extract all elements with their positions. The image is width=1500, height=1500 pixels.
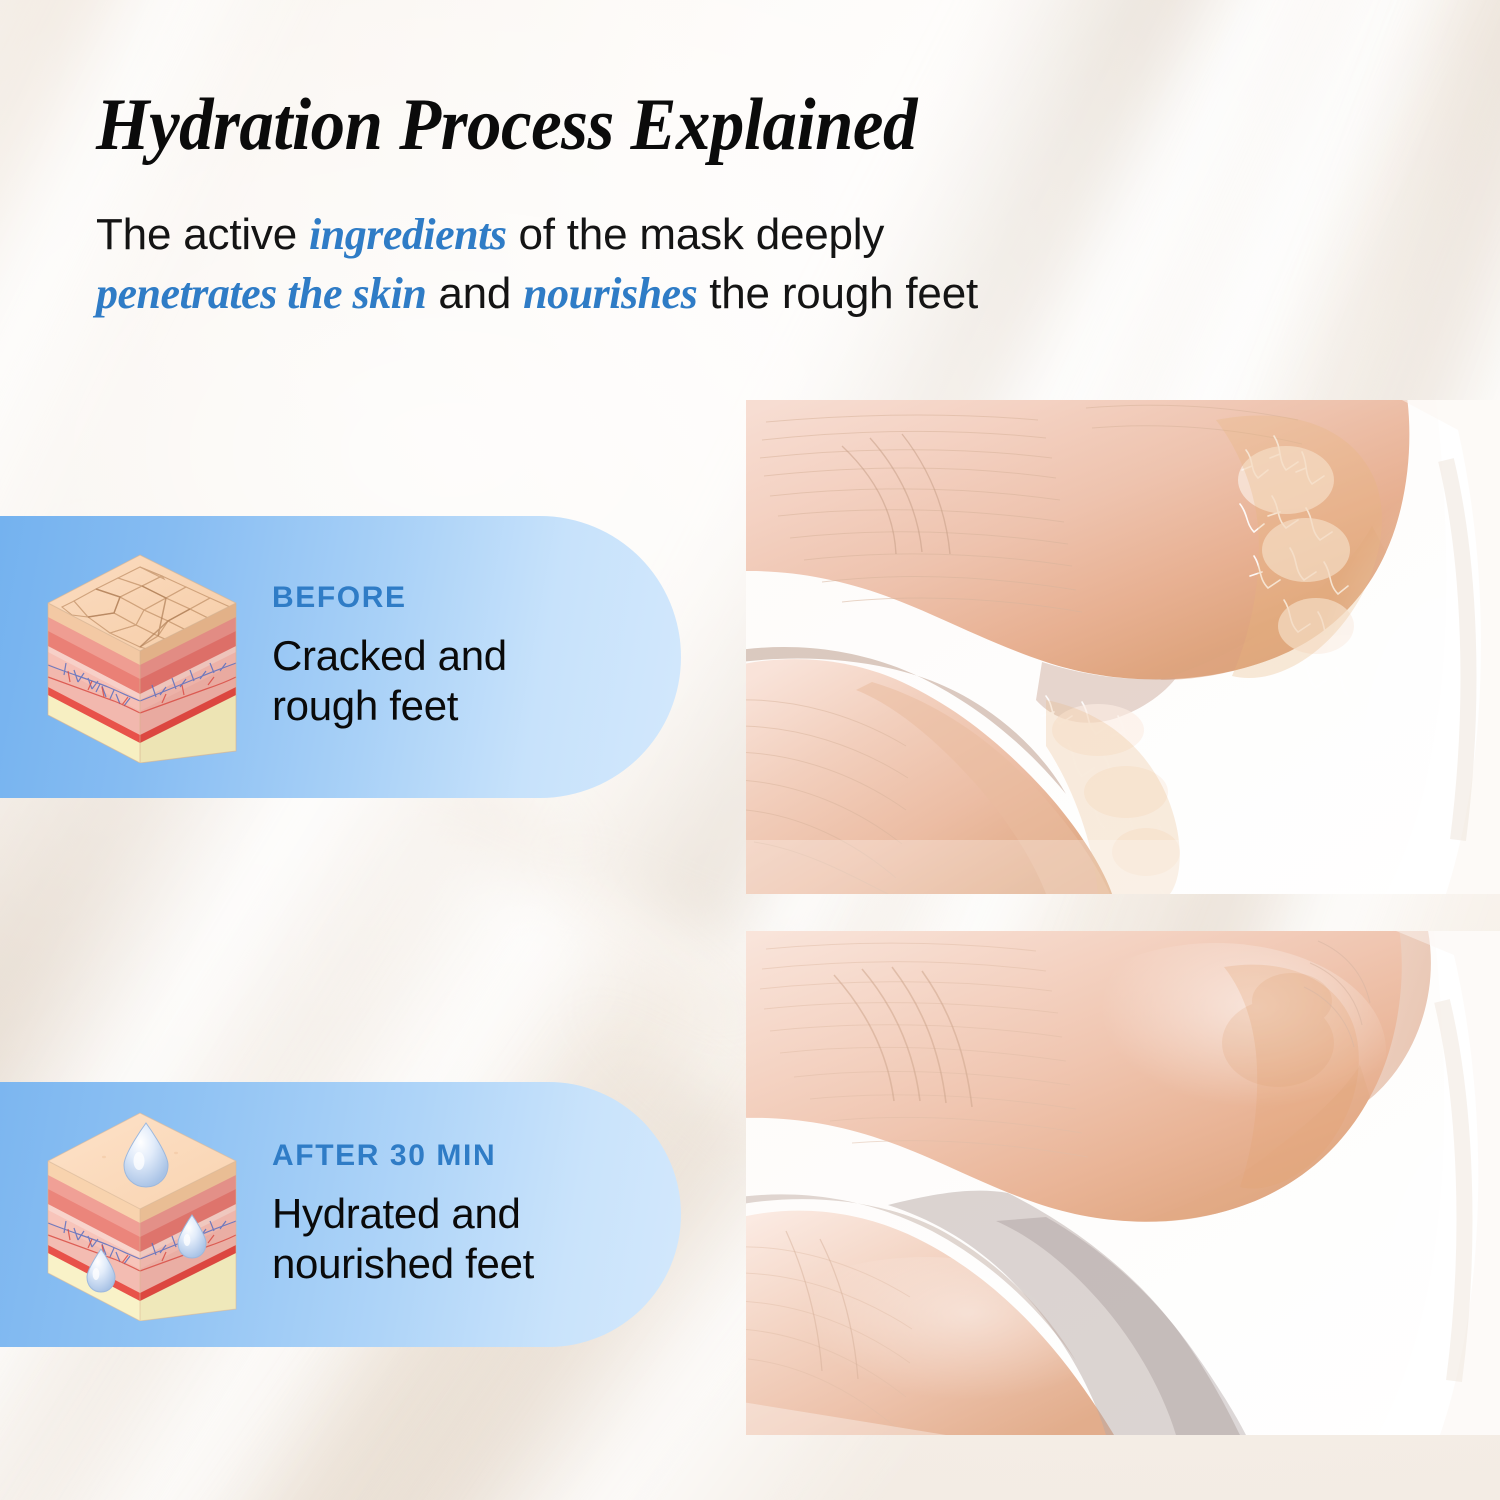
card-before-text: BEFORE Cracked and rough feet bbox=[272, 583, 507, 730]
subtitle-segment-accent-nourishes: nourishes bbox=[523, 269, 697, 318]
page-title: Hydration Process Explained bbox=[96, 88, 1026, 162]
card-after: AFTER 30 MIN Hydrated and nourished feet bbox=[0, 1082, 681, 1347]
card-after-text: AFTER 30 MIN Hydrated and nourished feet bbox=[272, 1141, 534, 1288]
subtitle-segment-plain-1: The active bbox=[96, 210, 309, 259]
card-before-kicker: BEFORE bbox=[272, 583, 507, 613]
photo-after-hydrated-heels bbox=[746, 931, 1500, 1435]
card-after-kicker: AFTER 30 MIN bbox=[272, 1141, 534, 1171]
skin-cross-section-hydrated-icon bbox=[44, 1109, 244, 1321]
subtitle-segment-plain-3: and bbox=[426, 269, 523, 318]
subtitle-segment-accent-penetrates: penetrates the skin bbox=[96, 269, 426, 318]
card-after-body: Hydrated and nourished feet bbox=[272, 1189, 534, 1288]
page-subtitle: The active ingredients of the mask deepl… bbox=[96, 205, 1106, 324]
skin-cross-section-cracked-icon bbox=[44, 551, 244, 763]
subtitle-segment-accent-ingredients: ingredients bbox=[309, 210, 506, 259]
photo-before-cracked-heels bbox=[746, 400, 1500, 894]
card-before: BEFORE Cracked and rough feet bbox=[0, 516, 681, 798]
subtitle-segment-plain-2: of the mask deeply bbox=[506, 210, 884, 259]
subtitle-segment-plain-4: the rough feet bbox=[697, 269, 978, 318]
card-before-body: Cracked and rough feet bbox=[272, 631, 507, 730]
